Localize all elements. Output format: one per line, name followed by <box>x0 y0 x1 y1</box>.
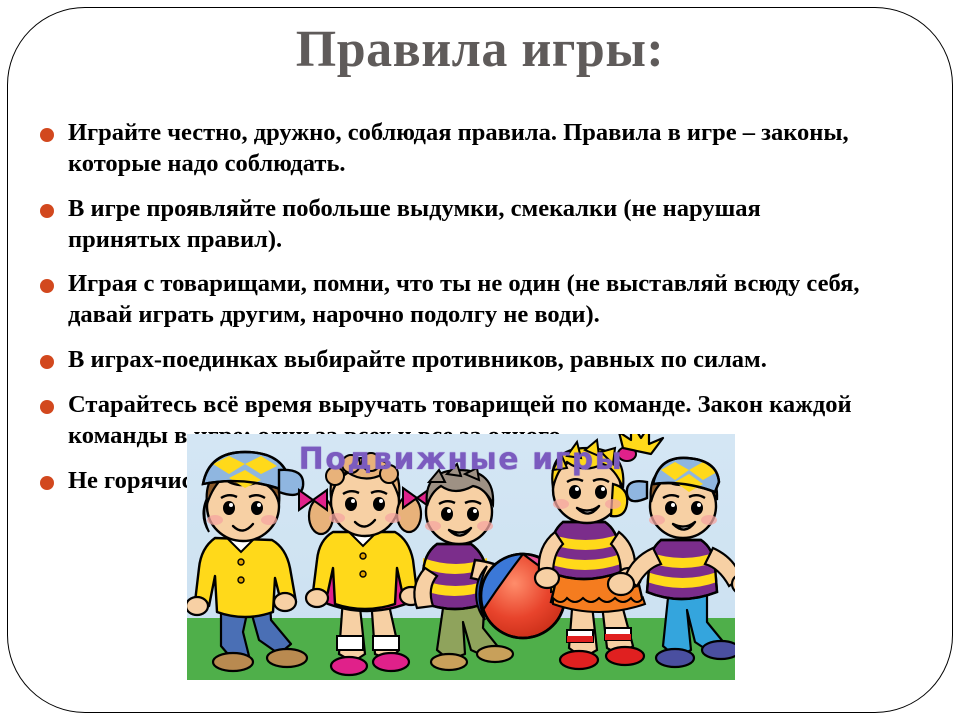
child-boy-in-checkered-cap <box>187 452 307 671</box>
page-title: Правила игры: <box>0 22 960 77</box>
clipart-caption: Подвижные игры <box>187 442 735 477</box>
clipart-children-playing: Подвижные игры <box>187 434 735 680</box>
list-item: Играя с товарищами, помни, что ты не оди… <box>34 269 870 331</box>
bullet-icon <box>40 128 54 142</box>
bullet-icon <box>40 400 54 414</box>
list-item: В игре проявляйте побольше выдумки, смек… <box>34 194 870 256</box>
list-item-text: Играя с товарищами, помни, что ты не оди… <box>68 269 870 331</box>
bullet-icon <box>40 476 54 490</box>
child-girl-in-yellow-dress <box>299 453 431 675</box>
bullet-icon <box>40 204 54 218</box>
list-item: Играйте честно, дружно, соблюдая правила… <box>34 118 870 180</box>
list-item-text: В игре проявляйте побольше выдумки, смек… <box>68 194 870 256</box>
list-item: В играх-поединках выбирайте противников,… <box>34 345 870 376</box>
list-item-text: Играйте честно, дружно, соблюдая правила… <box>68 118 870 180</box>
bullet-icon <box>40 355 54 369</box>
slide: Правила игры: Играйте честно, дружно, со… <box>0 0 960 720</box>
list-item-text: В играх-поединках выбирайте противников,… <box>68 345 870 376</box>
bullet-icon <box>40 279 54 293</box>
